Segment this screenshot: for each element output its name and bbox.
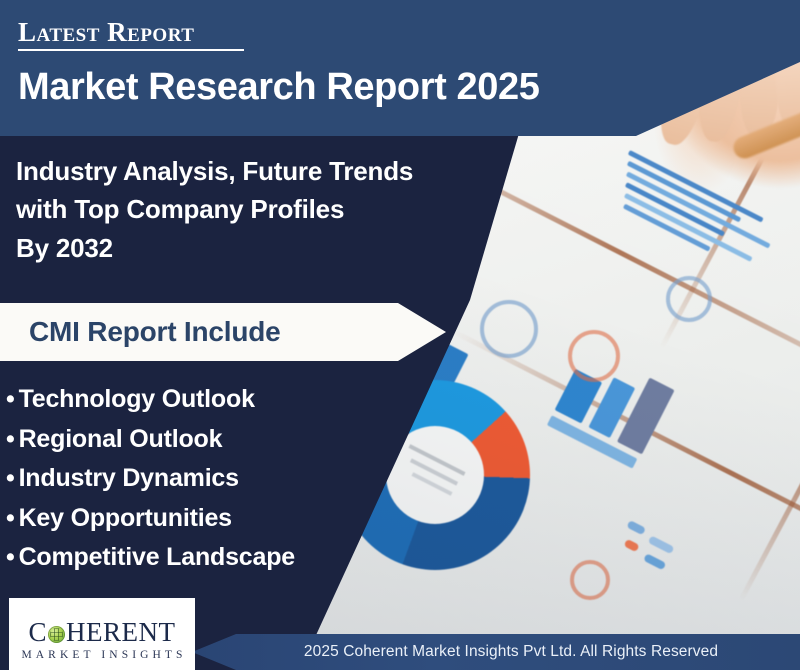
- bullet-dot-icon: •: [6, 385, 15, 413]
- logo-tagline: MARKET INSIGHTS: [17, 649, 186, 661]
- globe-icon: [48, 626, 65, 643]
- subtitle-line-3: By 2032: [16, 229, 413, 267]
- subtitle-line-1: Industry Analysis, Future Trends: [16, 152, 413, 190]
- logo-word-end: HERENT: [66, 619, 175, 646]
- list-item-label: Regional Outlook: [19, 425, 223, 453]
- bullet-dot-icon: •: [6, 425, 15, 453]
- eyebrow-underline: [18, 49, 244, 51]
- list-item-label: Key Opportunities: [19, 504, 232, 532]
- subtitle-line-2: with Top Company Profiles: [16, 190, 413, 228]
- page-title: Market Research Report 2025: [18, 68, 539, 108]
- cmi-report-include-ribbon: CMI Report Include: [0, 303, 446, 361]
- footer-copyright-bar: 2025 Coherent Market Insights Pvt Ltd. A…: [192, 634, 800, 670]
- list-item-label: Industry Dynamics: [19, 464, 239, 492]
- logo-word-start: C: [29, 619, 48, 646]
- report-inclusions-list: •Technology Outlook •Regional Outlook •I…: [6, 380, 295, 578]
- list-item-label: Competitive Landscape: [19, 543, 295, 571]
- list-item: •Key Opportunities: [6, 499, 295, 539]
- copyright-text: 2025 Coherent Market Insights Pvt Ltd. A…: [274, 643, 718, 661]
- bullet-dot-icon: •: [6, 543, 15, 571]
- list-item: •Technology Outlook: [6, 380, 295, 420]
- list-item: •Regional Outlook: [6, 420, 295, 460]
- subtitle-block: Industry Analysis, Future Trends with To…: [16, 152, 413, 267]
- list-item: •Industry Dynamics: [6, 459, 295, 499]
- logo-wordmark: C HERENT: [29, 619, 176, 646]
- coherent-market-insights-logo: C HERENT MARKET INSIGHTS: [9, 598, 195, 670]
- bullet-dot-icon: •: [6, 504, 15, 532]
- list-item: •Competitive Landscape: [6, 538, 295, 578]
- ribbon-label: CMI Report Include: [0, 316, 281, 348]
- list-item-label: Technology Outlook: [19, 385, 255, 413]
- eyebrow-label: Latest Report: [18, 19, 194, 46]
- report-cover-poster: Latest Report Market Research Report 202…: [0, 0, 800, 670]
- bullet-dot-icon: •: [6, 464, 15, 492]
